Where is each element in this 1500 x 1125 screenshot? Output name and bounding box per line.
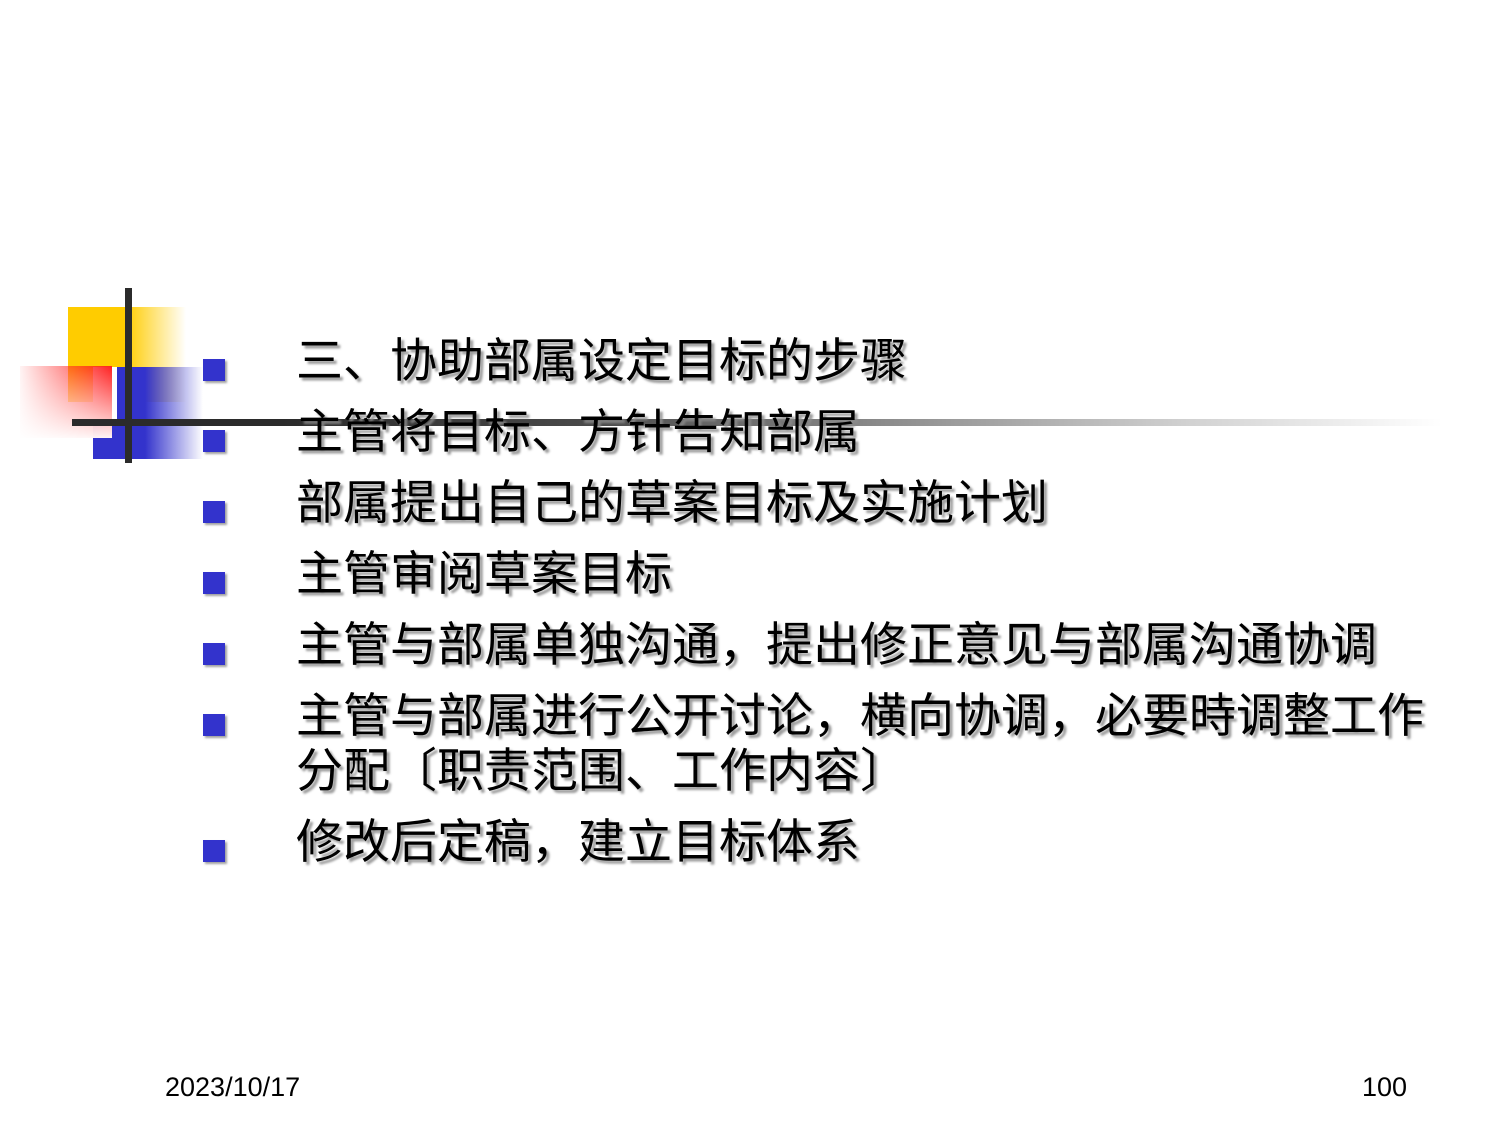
list-item: 主管与部属进行公开讨论，横向协调，必要時调整工作分配〔职责范围、工作内容〕: [0, 690, 1500, 800]
slide-decoration: [0, 130, 1500, 350]
square-bullet-icon: [203, 501, 225, 523]
list-item-text: 主管将目标、方针告知部属: [296, 406, 1440, 461]
list-item: 主管与部属单独沟通，提出修正意见与部属沟通协调: [0, 619, 1500, 674]
list-item-text: 主管与部属单独沟通，提出修正意见与部属沟通协调: [296, 619, 1440, 674]
slide-content-body: 三、协助部属设定目标的步骤 主管将目标、方针告知部属 部属提出自己的草案目标及实…: [0, 335, 1500, 887]
list-item: 修改后定稿，建立目标体系: [0, 816, 1500, 871]
square-bullet-icon: [203, 572, 225, 594]
list-item-text: 修改后定稿，建立目标体系: [296, 816, 1440, 871]
list-item-text: 主管审阅草案目标: [296, 548, 1440, 603]
square-bullet-icon: [203, 430, 225, 452]
list-item: 部属提出自己的草案目标及实施计划: [0, 477, 1500, 532]
square-bullet-icon: [203, 359, 225, 381]
list-item: 三、协助部属设定目标的步骤: [0, 335, 1500, 390]
list-item-text: 三、协助部属设定目标的步骤: [296, 335, 1440, 390]
list-item: 主管审阅草案目标: [0, 548, 1500, 603]
square-bullet-icon: [203, 643, 225, 665]
footer-date: 2023/10/17: [165, 1072, 300, 1103]
list-item: 主管将目标、方针告知部属: [0, 406, 1500, 461]
list-item-text: 部属提出自己的草案目标及实施计划: [296, 477, 1440, 532]
list-item-text: 主管与部属进行公开讨论，横向协调，必要時调整工作分配〔职责范围、工作内容〕: [296, 690, 1440, 800]
footer-page-number: 100: [1362, 1072, 1407, 1103]
square-bullet-icon: [203, 840, 225, 862]
square-bullet-icon: [203, 714, 225, 736]
